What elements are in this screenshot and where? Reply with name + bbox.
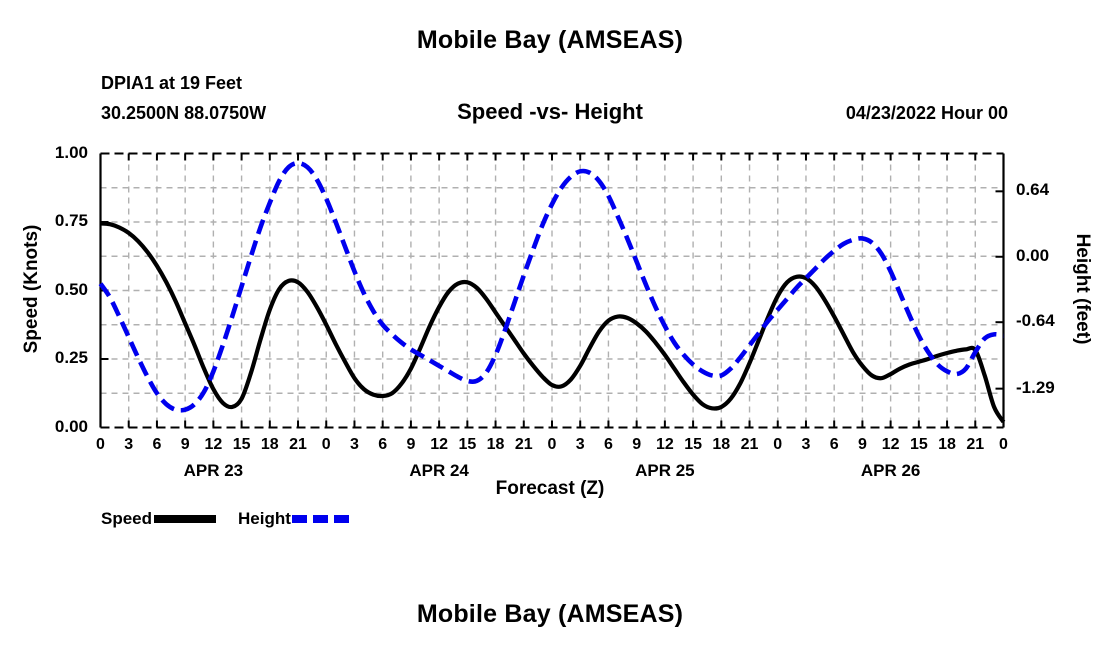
page-title-bottom: Mobile Bay (AMSEAS)	[0, 600, 1100, 629]
station-name: DPIA1 at 19 Feet	[101, 73, 242, 94]
y-axis-right-tick-label: 0.64	[1016, 180, 1086, 200]
series-line-height	[101, 163, 1004, 410]
y-axis-left-tick-label: 0.50	[28, 280, 88, 300]
y-axis-left-tick-label: 0.75	[28, 211, 88, 231]
legend-swatch-height	[292, 515, 354, 523]
legend-swatch-speed	[154, 515, 216, 523]
legend-label-height: Height	[238, 509, 291, 529]
y-axis-left-tick-label: 1.00	[28, 143, 88, 163]
x-axis-label: Forecast (Z)	[0, 478, 1100, 500]
page-title-top: Mobile Bay (AMSEAS)	[0, 26, 1100, 55]
y-axis-right-tick-label: -1.29	[1016, 378, 1086, 398]
x-axis-tick-label: 0	[984, 436, 1024, 454]
x-axis-day-label: APR 24	[379, 461, 499, 481]
y-axis-right-label: Height (feet)	[1071, 169, 1093, 409]
chart-canvas	[0, 0, 1100, 650]
plot-area	[0, 0, 1100, 650]
y-axis-left-tick-label: 0.25	[28, 348, 88, 368]
y-axis-right-tick-label: 0.00	[1016, 246, 1086, 266]
x-axis-day-label: APR 23	[153, 461, 273, 481]
legend-label-speed: Speed	[101, 509, 152, 529]
y-axis-left-tick-label: 0.00	[28, 417, 88, 437]
x-axis-day-label: APR 25	[605, 461, 725, 481]
forecast-run-timestamp: 04/23/2022 Hour 00	[846, 103, 1008, 124]
x-axis-day-label: APR 26	[831, 461, 951, 481]
y-axis-right-tick-label: -0.64	[1016, 311, 1086, 331]
series-line-speed	[101, 223, 1004, 422]
chart-legend: Speed Height	[101, 508, 354, 530]
